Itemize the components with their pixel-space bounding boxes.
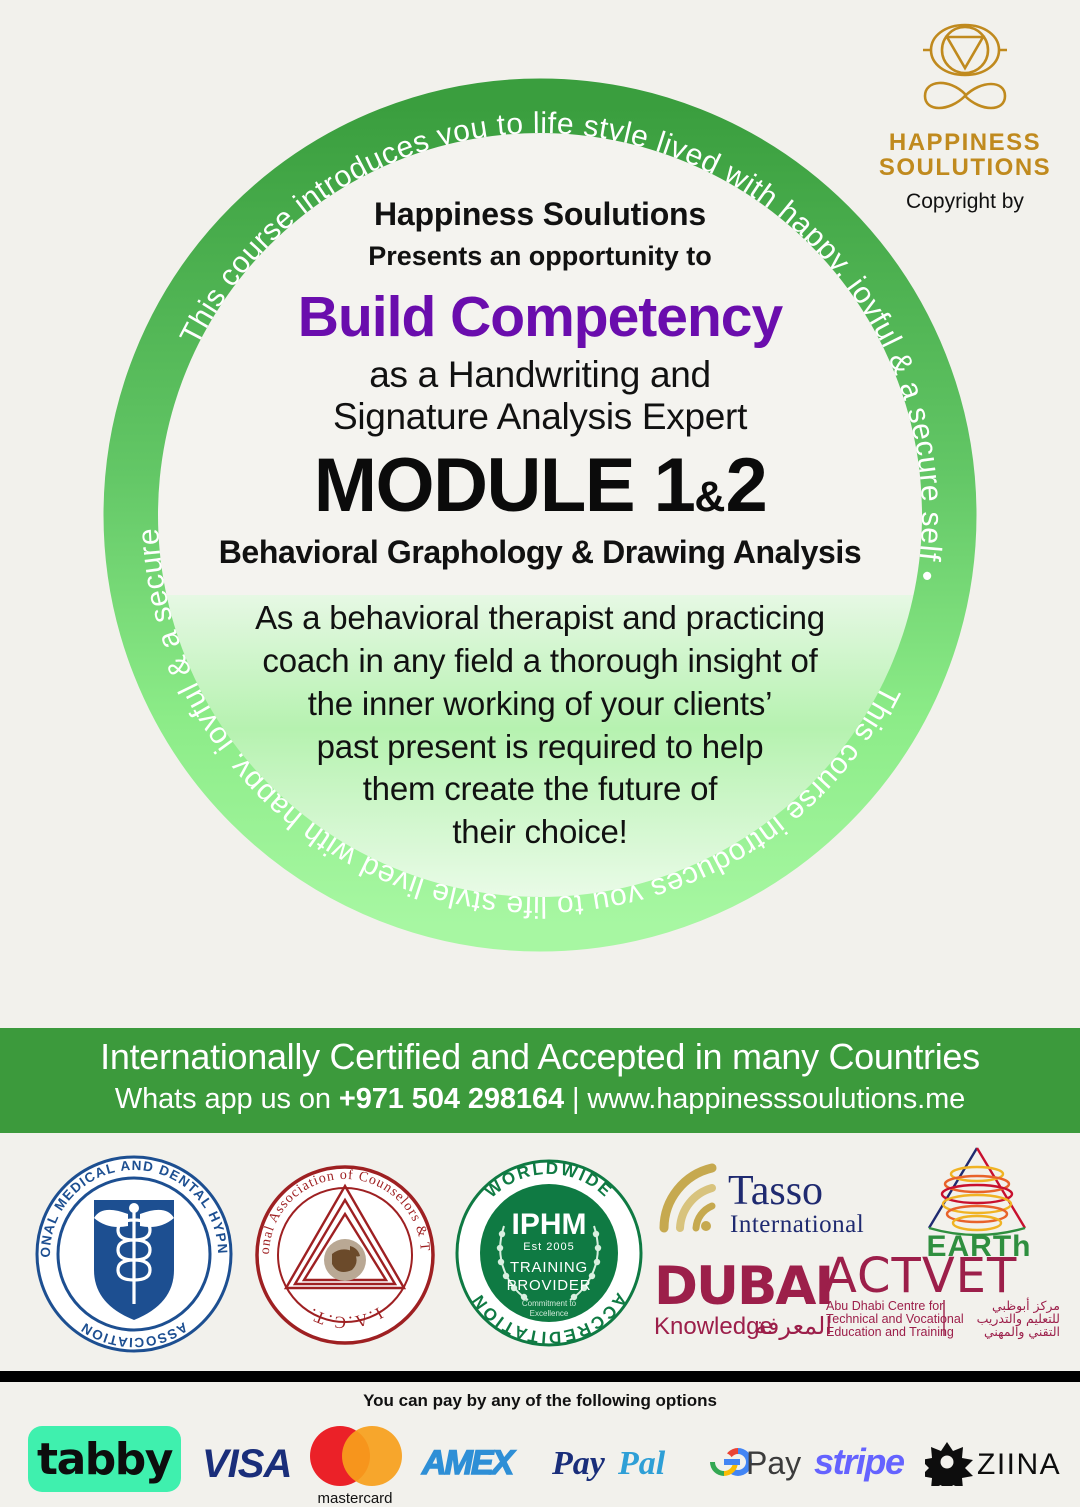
svg-text:Pay: Pay bbox=[551, 1445, 606, 1482]
module-ampersand: & bbox=[694, 473, 725, 521]
banner-contact: Whats app us on +971 504 298164 | www.ha… bbox=[0, 1081, 1080, 1119]
tabby-label: tabby bbox=[37, 1434, 172, 1485]
banner-title: Internationally Certified and Accepted i… bbox=[0, 1034, 1080, 1079]
phone-number[interactable]: +971 504 298164 bbox=[339, 1083, 564, 1115]
svg-text:International: International bbox=[730, 1211, 864, 1238]
svg-text:Est 2005: Est 2005 bbox=[523, 1241, 574, 1253]
module-subtitle: Behavioral Graphology & Drawing Analysis bbox=[200, 534, 880, 571]
subhead-line-1: as a Handwriting and bbox=[200, 354, 880, 396]
iact-seal: International Association of Counselors … bbox=[252, 1162, 438, 1348]
payment-method-tabby[interactable]: tabby bbox=[28, 1426, 181, 1492]
svg-text:Abu Dhabi Centre for: Abu Dhabi Centre for bbox=[826, 1299, 943, 1313]
presents-line: Presents an opportunity to bbox=[200, 240, 880, 272]
svg-text:ZIINA: ZIINA bbox=[977, 1448, 1061, 1481]
svg-text:Commitment to: Commitment to bbox=[522, 1299, 577, 1308]
svg-text:ACTVET: ACTVET bbox=[824, 1248, 1017, 1304]
earth-logo: EARTh bbox=[905, 1144, 1055, 1264]
svg-text:Tasso: Tasso bbox=[728, 1168, 823, 1214]
svg-text:IPHM: IPHM bbox=[512, 1208, 587, 1241]
payment-methods-row: tabby VISA mastercard AMEX Pay Pal bbox=[0, 1420, 1080, 1500]
circle-inner-panel: Happiness Soulutions Presents an opportu… bbox=[158, 133, 922, 897]
svg-text:Technical and Vocational: Technical and Vocational bbox=[826, 1312, 964, 1326]
paragraph-line: them create the future of bbox=[200, 768, 880, 811]
svg-text:PROVIDER: PROVIDER bbox=[507, 1277, 592, 1294]
headline: Build Competency bbox=[200, 287, 880, 349]
module-label: MODULE 1 bbox=[314, 443, 695, 528]
iphm-seal: WORLDWIDE ACCREDITATION IPHM Est 2005 bbox=[452, 1156, 646, 1350]
mastercard-label: mastercard bbox=[300, 1490, 410, 1507]
certification-banner: Internationally Certified and Accepted i… bbox=[0, 1028, 1080, 1133]
payment-method-mastercard[interactable]: mastercard bbox=[300, 1423, 410, 1507]
svg-text:DUBAI: DUBAI bbox=[654, 1256, 832, 1317]
svg-text:Pal: Pal bbox=[617, 1445, 666, 1482]
description-paragraph: As a behavioral therapist and practicing… bbox=[200, 597, 880, 854]
svg-text:TRAINING: TRAINING bbox=[510, 1259, 588, 1276]
module-number-two: 2 bbox=[725, 443, 766, 528]
imdha-seal: INTERNATIONAL MEDICAL AND DENTAL HYPNOTH… bbox=[32, 1152, 237, 1357]
paragraph-line: the inner working of your clients’ bbox=[200, 683, 880, 726]
svg-text:VISA: VISA bbox=[202, 1442, 291, 1486]
course-circle: This course introduces you to life style… bbox=[103, 78, 977, 952]
svg-text:التقني والمهني: التقني والمهني bbox=[984, 1324, 1060, 1340]
payment-method-ziina[interactable]: ZIINA bbox=[925, 1438, 1070, 1486]
payment-method-gpay[interactable]: Pay bbox=[700, 1438, 810, 1486]
svg-text:المعرفة: المعرفة bbox=[755, 1312, 832, 1340]
website-url[interactable]: www.happinesssoulutions.me bbox=[587, 1083, 965, 1115]
svg-text:stripe: stripe bbox=[814, 1441, 905, 1482]
paragraph-line: coach in any field a thorough insight of bbox=[200, 640, 880, 683]
payment-method-stripe[interactable]: stripe bbox=[812, 1440, 922, 1486]
section-divider-bar bbox=[0, 1371, 1080, 1382]
module-title: MODULE 1&2 bbox=[200, 448, 880, 524]
whatsapp-label: Whats app us on bbox=[115, 1083, 339, 1115]
payment-method-amex[interactable]: AMEX bbox=[420, 1440, 530, 1484]
payment-note: You can pay by any of the following opti… bbox=[0, 1391, 1080, 1411]
svg-text:AMEX: AMEX bbox=[421, 1444, 517, 1482]
svg-text:Pay: Pay bbox=[746, 1445, 801, 1481]
svg-text:Excellence: Excellence bbox=[530, 1309, 569, 1318]
banner-divider: | bbox=[564, 1083, 587, 1115]
paragraph-line: their choice! bbox=[200, 811, 880, 854]
payment-method-paypal[interactable]: Pay Pal bbox=[550, 1440, 690, 1486]
tasso-international-logo: Tasso International bbox=[650, 1156, 895, 1242]
accreditation-row: INTERNATIONAL MEDICAL AND DENTAL HYPNOTH… bbox=[0, 1140, 1080, 1365]
subhead-line-2: Signature Analysis Expert bbox=[200, 396, 880, 438]
paragraph-line: past present is required to help bbox=[200, 726, 880, 769]
svg-text:Education and Training: Education and Training bbox=[826, 1325, 954, 1339]
dubai-knowledge-logo: DUBAI Knowledge المعرفة bbox=[650, 1248, 835, 1340]
actvet-logo: ACTVET Abu Dhabi Centre for Technical an… bbox=[822, 1248, 1064, 1340]
poster-root: HAPPINESS SOULUTIONS Copyright by bbox=[0, 0, 1080, 1500]
paragraph-line: As a behavioral therapist and practicing bbox=[200, 597, 880, 640]
brand-name: Happiness Soulutions bbox=[200, 195, 880, 233]
